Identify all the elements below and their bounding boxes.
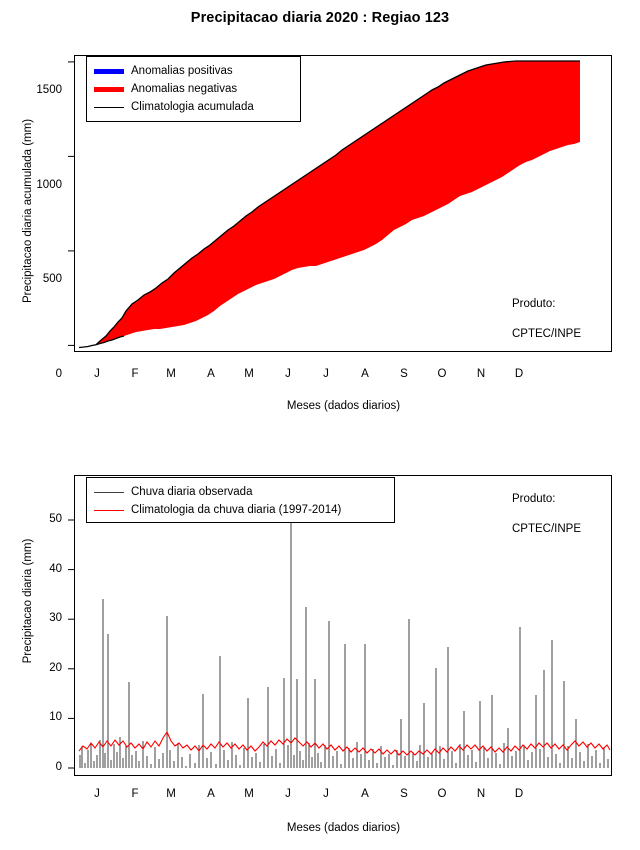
page-title: Precipitacao diaria 2020 : Regiao 123 <box>0 10 640 26</box>
bottom-xtick-jan: J <box>90 788 104 800</box>
panel-accumulated: Precipitacao diaria acumulada (mm) <box>0 30 640 420</box>
bottom-ytick-0: 0 <box>40 761 62 773</box>
bottom-xtick-may: M <box>242 788 256 800</box>
legend-swatch-negative <box>94 87 124 92</box>
bottom-legend-label-observed: Chuva diaria observada <box>131 484 252 500</box>
observed-daily-spikes <box>80 520 608 768</box>
bottom-legend-item-climatology: Climatologia da chuva diaria (1997-2014) <box>94 502 386 518</box>
bottom-xtick-dec: D <box>512 788 526 800</box>
top-xtick-apr: A <box>204 368 218 380</box>
top-legend-item-positive: Anomalias positivas <box>94 63 292 79</box>
top-ytick-1000: 1000 <box>16 179 62 191</box>
bottom-xtick-sep: S <box>397 788 411 800</box>
bottom-xtick-nov: N <box>474 788 488 800</box>
top-legend-item-climatology: Climatologia acumulada <box>94 99 292 115</box>
top-legend-label-climatology: Climatologia acumulada <box>131 99 254 115</box>
legend-swatch-climatology <box>94 107 124 108</box>
bottom-produto-annotation: Produto: CPTEC/INPE <box>512 477 612 537</box>
top-xtick-aug: A <box>358 368 372 380</box>
top-legend-label-negative: Anomalias negativas <box>131 81 237 97</box>
top-produto-line2: CPTEC/INPE <box>512 328 581 340</box>
bottom-legend-item-observed: Chuva diaria observada <box>94 484 386 500</box>
bottom-ytick-30: 30 <box>33 612 62 624</box>
bottom-legend-label-climatology: Climatologia da chuva diaria (1997-2014) <box>131 502 341 518</box>
top-legend-label-positive: Anomalias positivas <box>131 63 233 79</box>
bottom-xtick-feb: F <box>128 788 142 800</box>
top-ytick-500: 500 <box>23 273 62 285</box>
bottom-x-axis-label: Meses (dados diarios) <box>75 822 612 834</box>
top-legend-item-negative: Anomalias negativas <box>94 81 292 97</box>
top-xtick-mar: M <box>164 368 178 380</box>
bottom-xtick-jun: J <box>281 788 295 800</box>
bottom-y-axis-label: Precipitacao diaria (mm) <box>22 516 34 686</box>
top-xtick-jun: J <box>281 368 295 380</box>
bottom-xtick-apr: A <box>204 788 218 800</box>
top-xtick-feb: F <box>128 368 142 380</box>
bottom-ytick-10: 10 <box>33 711 62 723</box>
bottom-produto-line1: Produto: <box>512 493 555 505</box>
bottom-xtick-mar: M <box>164 788 178 800</box>
top-ytick-1500: 1500 <box>16 84 62 96</box>
top-xtick-jan: J <box>90 368 104 380</box>
top-xtick-may: M <box>242 368 256 380</box>
chart-page: Precipitacao diaria 2020 : Regiao 123 Pr… <box>0 0 640 850</box>
top-produto-annotation: Produto: CPTEC/INPE <box>512 282 612 342</box>
top-xtick-jul: J <box>319 368 333 380</box>
bottom-produto-line2: CPTEC/INPE <box>512 523 581 535</box>
top-y-axis-label: Precipitacao diaria acumulada (mm) <box>22 101 34 321</box>
bottom-ytick-50: 50 <box>33 513 62 525</box>
bottom-xtick-oct: O <box>435 788 449 800</box>
bottom-ytick-20: 20 <box>33 662 62 674</box>
legend-swatch-positive <box>94 69 124 74</box>
legend-swatch-observed <box>94 492 124 493</box>
top-legend: Anomalias positivas Anomalias negativas … <box>86 56 301 122</box>
top-ytick-0: 0 <box>30 368 62 380</box>
top-x-axis-label: Meses (dados diarios) <box>75 400 612 412</box>
panel-daily: Precipitacao diaria (mm) <box>0 455 640 850</box>
bottom-legend: Chuva diaria observada Climatologia da c… <box>86 477 395 523</box>
top-produto-line1: Produto: <box>512 298 555 310</box>
bottom-xtick-aug: A <box>358 788 372 800</box>
legend-swatch-daily-climatology <box>94 510 124 511</box>
top-xtick-nov: N <box>474 368 488 380</box>
top-xtick-sep: S <box>397 368 411 380</box>
bottom-ytick-40: 40 <box>33 563 62 575</box>
bottom-xtick-jul: J <box>319 788 333 800</box>
top-xtick-oct: O <box>435 368 449 380</box>
top-xtick-dec: D <box>512 368 526 380</box>
